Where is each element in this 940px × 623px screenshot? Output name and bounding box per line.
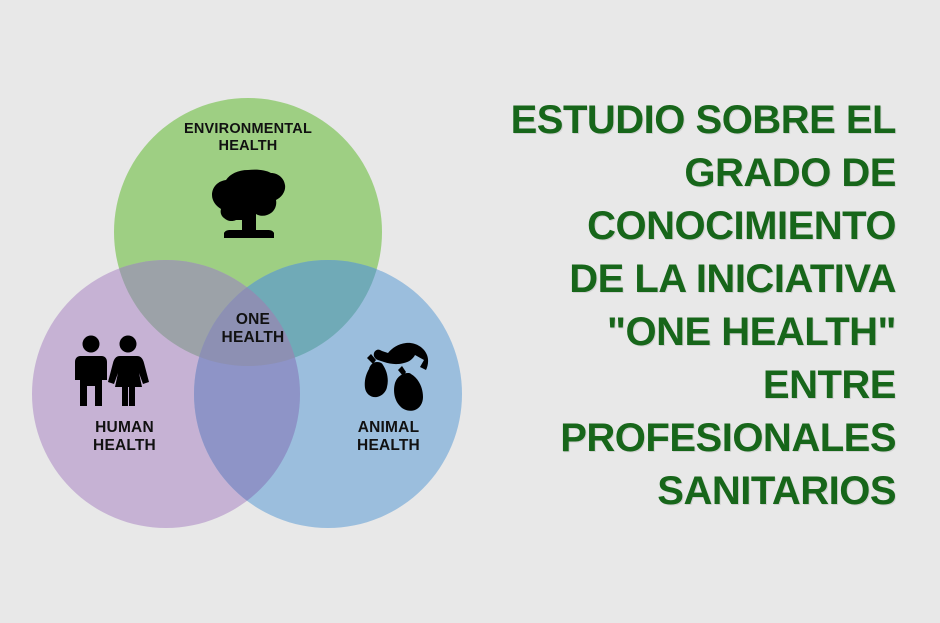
title-line-1: Estudio sobre el [426, 94, 896, 147]
title-line-2: grado de [426, 147, 896, 200]
venn-circles-svg [0, 0, 480, 623]
title-line-8: sanitarios [426, 465, 896, 518]
venn-diagram: ENVIRONMENTAL HEALTH HUMAN HEALTH ANIMAL… [0, 0, 480, 623]
title-line-3: conocimiento [426, 200, 896, 253]
title-line-6: entre [426, 359, 896, 412]
title-line-4: de la iniciativa [426, 253, 896, 306]
title-line-7: profesionales [426, 412, 896, 465]
poster-canvas: ENVIRONMENTAL HEALTH HUMAN HEALTH ANIMAL… [0, 0, 940, 623]
title-line-5: "One Health" [426, 306, 896, 359]
page-title: Estudio sobre el grado de conocimiento d… [426, 94, 896, 518]
